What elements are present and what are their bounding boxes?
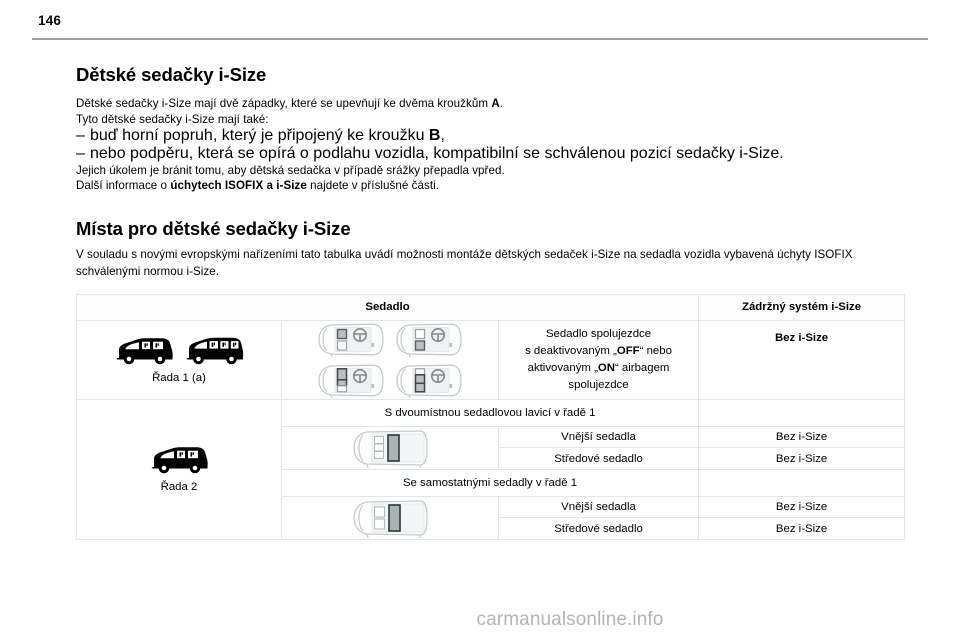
page-title: Dětské sedačky i-Size	[76, 64, 904, 85]
header-divider	[32, 38, 928, 40]
intro-bullet-2-text: nebo podpěru, která se opírá o podlahu v…	[90, 145, 784, 163]
subsection-paragraph: V souladu s novými evropskými nařízeními…	[76, 247, 904, 280]
page-number: 146	[38, 13, 61, 28]
row1-vehicle-icons	[77, 336, 281, 366]
top-view-bench-lower-icon	[393, 362, 465, 399]
row1-condition-l3a: aktivovaným „	[528, 362, 598, 374]
row1-restraint-value: Bez i-Size	[699, 321, 904, 350]
row2-group1-heading: S dvoumístnou sedadlovou lavicí v řadě 1	[282, 399, 699, 426]
row1-restraint-cell: Bez i-Size	[699, 320, 905, 399]
row1-condition-l1: Sedadlo spolujezdce	[546, 328, 651, 340]
subsection-title: Místa pro dětské sedačky i-Size	[76, 218, 904, 239]
row2-label: Řada 2	[77, 475, 281, 493]
top-view-seat-front-right-icon	[393, 321, 465, 358]
row1-condition-l2a: s deaktivovaným „	[525, 345, 617, 357]
dash-icon: –	[76, 145, 90, 163]
intro-line-1: Dětské sedačky i-Size mají dvě západky, …	[76, 96, 904, 111]
van-side-long-icon	[183, 336, 245, 366]
row1-label: Řada 1 (a)	[77, 366, 281, 384]
table-row-row2-group1-heading: Řada 2 S dvoumístnou sedadlovou lavicí v…	[77, 399, 905, 426]
anchor-label-b: B	[429, 127, 441, 144]
row1-diagram-cell	[282, 320, 499, 399]
intro-bullet-2: – nebo podpěru, která se opírá o podlahu…	[76, 145, 904, 163]
row1-condition-l4: spolujezdce	[568, 379, 628, 391]
i-size-seat-positions-table: Sedadlo Zádržný systém i-Size	[76, 294, 905, 540]
row2-group2-diagram-cell	[282, 496, 499, 539]
intro-bullet-1: – buď horní popruh, který je připojený k…	[76, 127, 904, 145]
header-seat: Sedadlo	[77, 294, 699, 320]
row2-vehicle-cell: Řada 2	[77, 399, 282, 539]
van-side-icon	[148, 445, 210, 475]
row2-vehicle-icons	[77, 445, 281, 475]
row2-group1-diagram-cell	[282, 426, 499, 469]
anchor-label-a: A	[491, 97, 499, 110]
intro-bullet-1-text-a: buď horní popruh, který je připojený ke …	[90, 127, 429, 144]
intro-line-4: Další informace o úchytech ISOFIX a i-Si…	[76, 178, 904, 193]
row2-group1-item2-restraint: Bez i-Size	[699, 448, 905, 470]
intro-line-4-text-b: najdete v příslušné části.	[307, 179, 439, 192]
intro-line-3: Jejich úkolem je bránit tomu, aby dětská…	[76, 163, 904, 178]
intro-line-4-text-a: Další informace o	[76, 179, 170, 192]
row2-group1-item1-position: Vnější sedadla	[499, 426, 699, 448]
intro-line-2: Tyto dětské sedačky i-Size mají také:	[76, 112, 904, 127]
page-header: 146	[0, 0, 960, 40]
row1-condition-l3b: “ airbagem	[615, 362, 669, 374]
table-header-row: Sedadlo Zádržný systém i-Size	[77, 294, 905, 320]
row2-group1-item1-restraint: Bez i-Size	[699, 426, 905, 448]
row2-group2-item1-restraint: Bez i-Size	[699, 496, 905, 518]
row2-group1-heading-restraint-empty	[699, 399, 905, 426]
row1-vehicle-cell: Řada 1 (a)	[77, 320, 282, 399]
top-view-bench-upper-icon	[315, 362, 387, 399]
van-side-short-icon	[113, 336, 175, 366]
intro-line-1-text-a: Dětské sedačky i-Size mají dvě západky, …	[76, 97, 491, 110]
row2-group2-item2-restraint: Bez i-Size	[699, 518, 905, 540]
row1-diagram-grid	[282, 321, 498, 399]
row1-condition-l2b: “ nebo	[640, 345, 672, 357]
dash-icon: –	[76, 127, 90, 145]
intro-bullet-1-text-b: ,	[440, 127, 444, 144]
airbag-on-label: ON	[598, 362, 615, 374]
watermark-text: carmanualsonline.info	[297, 609, 664, 630]
watermark: carmanualsonline.info	[0, 609, 960, 631]
row2-group2-heading-restraint-empty	[699, 469, 905, 496]
row2-group1-item2-position: Středové sedadlo	[499, 448, 699, 470]
intro-text-block: Dětské sedačky i-Size mají dvě západky, …	[76, 96, 904, 194]
intro-bullet-1-content: buď horní popruh, který je připojený ke …	[90, 127, 445, 145]
top-view-row2-separate-icon	[350, 497, 430, 539]
row2-group2-item1-position: Vnější sedadla	[499, 496, 699, 518]
row2-group2-diagram	[282, 497, 498, 539]
table-row-row1: Řada 1 (a)	[77, 320, 905, 399]
row2-group2-item2-position: Středové sedadlo	[499, 518, 699, 540]
row2-group2-heading: Se samostatnými sedadly v řadě 1	[282, 469, 699, 496]
row1-condition-cell: Sedadlo spolujezdce s deaktivovaným „OFF…	[499, 320, 699, 399]
header-restraint-system: Zádržný systém i-Size	[699, 294, 905, 320]
top-view-seat-front-left-icon	[315, 321, 387, 358]
airbag-off-label: OFF	[617, 345, 640, 357]
top-view-row2-bench-icon	[350, 427, 430, 469]
page-content: Dětské sedačky i-Size Dětské sedačky i-S…	[76, 64, 904, 540]
intro-line-1-text-b: .	[500, 97, 503, 110]
row2-group1-diagram	[282, 427, 498, 469]
isofix-reference-label: úchytech ISOFIX a i-Size	[170, 179, 307, 192]
